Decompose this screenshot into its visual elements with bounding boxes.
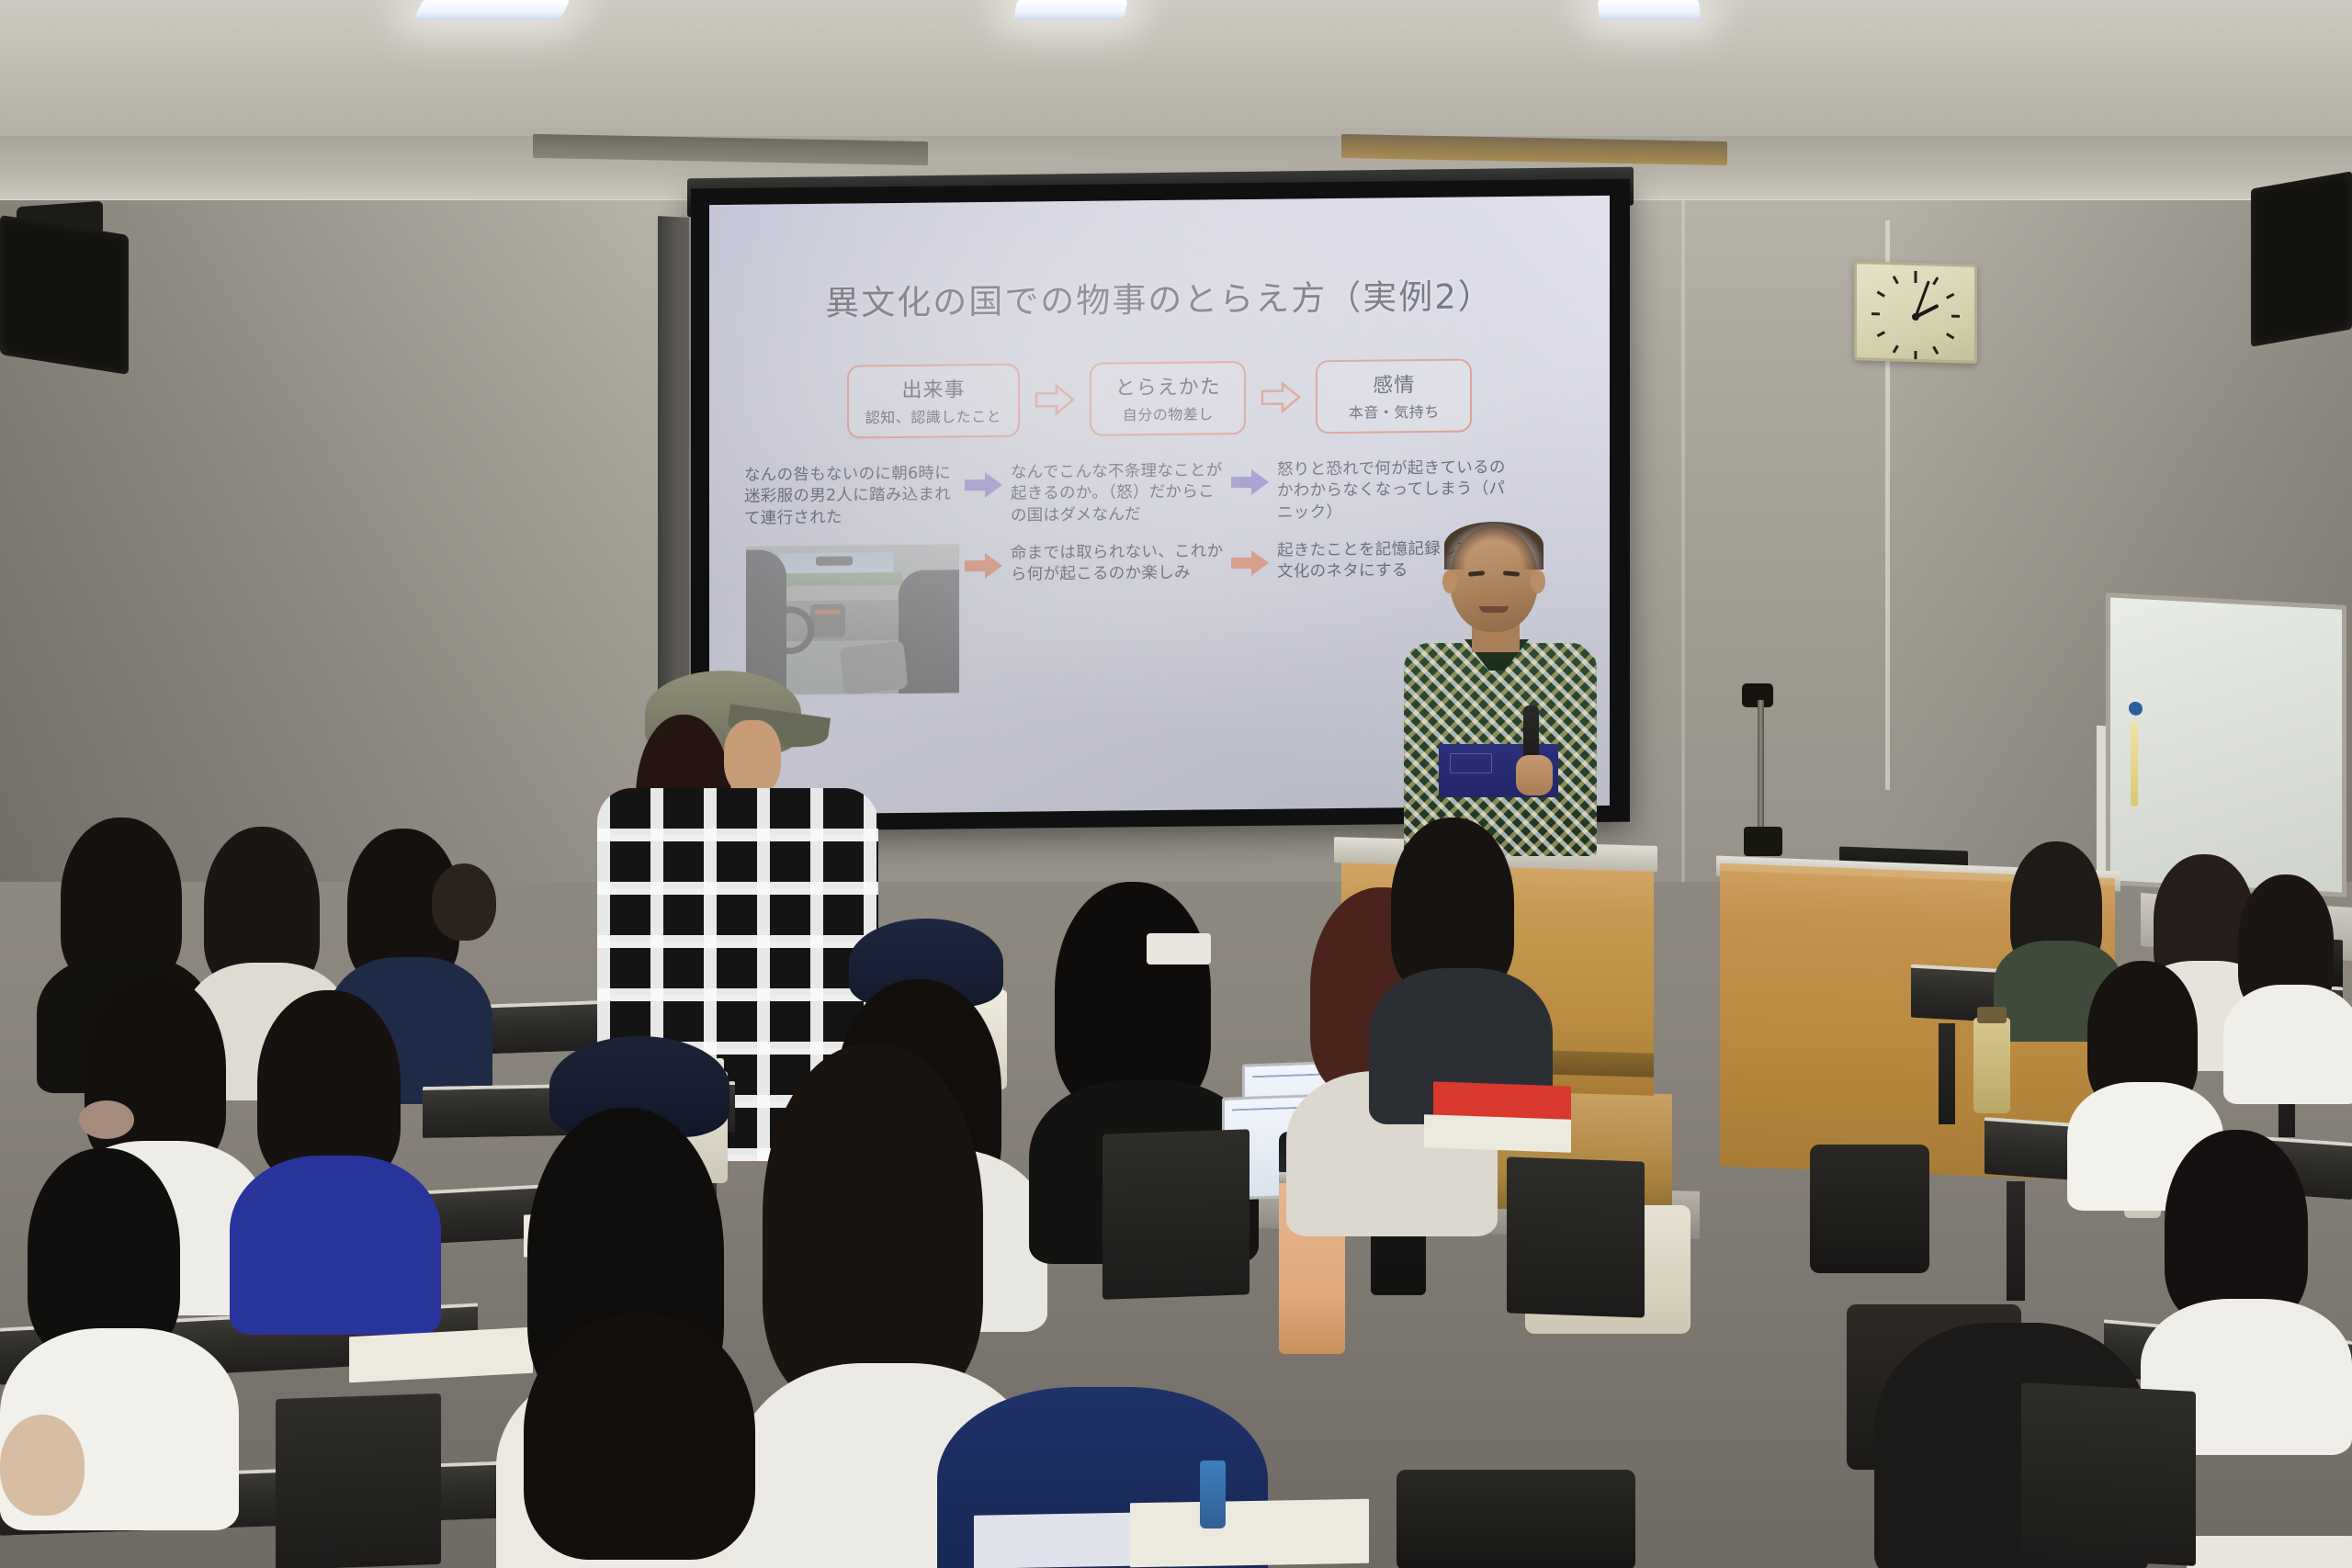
chair <box>276 1393 441 1568</box>
arrow-right-icon <box>961 461 1007 499</box>
chain-box-heading: 感情 <box>1334 368 1453 399</box>
chain-box-interpretation: とらえかた 自分の物差し <box>1090 361 1246 436</box>
wall-seam <box>1681 200 1685 898</box>
chair <box>2021 1382 2196 1566</box>
backpack <box>1810 1145 1929 1273</box>
audience-person <box>0 1148 239 1461</box>
chair <box>1507 1156 1645 1317</box>
small-can <box>1200 1461 1226 1529</box>
mic-stand-base <box>1744 827 1782 856</box>
wall-clock: 2:03 <box>1854 261 1977 364</box>
row-emotion-text: 怒りと恐れで何が起きているのかわからなくなってしまう（パニック） <box>1277 456 1507 524</box>
whiteboard <box>2106 592 2346 897</box>
desk-leg <box>2007 1181 2025 1301</box>
hair-scrunchie <box>79 1100 134 1139</box>
presenter-attire-label: patterned green and white shirt with blu… <box>1398 525 1399 526</box>
ceiling-light <box>1598 0 1701 20</box>
magnet-icon <box>2129 701 2143 716</box>
marker-icon <box>2131 722 2138 807</box>
handout-paper <box>1130 1499 1369 1568</box>
audience-person <box>1369 818 1553 1093</box>
backpack <box>1396 1470 1635 1568</box>
arrow-right-icon <box>1227 458 1273 496</box>
chain-box-sub: 認知、認識したこと <box>865 404 1002 428</box>
mic-stand-pole <box>1758 700 1764 840</box>
chain-box-heading: とらえかた <box>1108 370 1227 400</box>
arrow-right-icon <box>961 542 1007 580</box>
ceiling-light <box>1013 0 1128 20</box>
audience-person <box>2223 874 2352 1058</box>
ceiling-light <box>413 0 571 20</box>
arrow-right-icon <box>1227 538 1273 576</box>
slide-concept-chain: 出来事 認知、認識したこと とらえかた 自分の物差し <box>744 357 1575 439</box>
row-interpretation-text: 命までは取られない、これから何が起こるのか楽しみ <box>1011 539 1227 586</box>
neck <box>724 720 781 795</box>
handout-paper <box>1424 1114 1571 1153</box>
chain-box-sub: 本音・気持ち <box>1334 400 1453 423</box>
chain-box-emotion: 感情 本音・気持ち <box>1316 358 1472 434</box>
row-interpretation-text: なんでこんな不条理なことが起きるのか。（怒）だからこの国はダメなんだ <box>1011 458 1227 526</box>
desk-leg <box>1939 1023 1955 1124</box>
chevron-right-icon <box>1035 383 1075 416</box>
audience-person <box>230 990 441 1266</box>
presenter: patterned green and white shirt with blu… <box>1398 525 1600 856</box>
audience-person-front <box>487 1314 818 1568</box>
chevron-right-icon <box>1261 380 1301 413</box>
chain-box-event: 出来事 認知、認識したこと <box>847 364 1021 439</box>
presenter-ear <box>1442 570 1457 593</box>
chain-box-sub: 自分の物差し <box>1108 401 1227 424</box>
chair <box>1102 1129 1249 1300</box>
water-bottle <box>1973 1018 2010 1113</box>
presenter-ear <box>1531 570 1545 593</box>
audience-person <box>0 1415 110 1568</box>
lecture-hall-photo: 2:03 異文化の国での物事のとらえ方（実例2） 出来事 認知、認識したこと と… <box>0 0 2352 1568</box>
slide-row: なんの咎もないのに朝6時に迷彩服の男2人に踏み込まれて連行された なんでこんな不… <box>744 455 1575 529</box>
presenter-mouth <box>1479 606 1509 613</box>
wall-speaker-left <box>0 215 129 375</box>
presenter-hair <box>1444 522 1543 570</box>
chain-box-heading: 出来事 <box>865 373 1002 404</box>
wall-speaker-right <box>2251 171 2352 346</box>
audience-person <box>2141 1130 2352 1405</box>
clock-time-value: 2:03 <box>1857 264 1858 265</box>
bottle-cap <box>1977 1007 2007 1023</box>
handout-paper <box>2187 1536 2352 1568</box>
slide-title: 異文化の国での物事のとらえ方（実例2） <box>744 267 1575 325</box>
audience-person-glasses <box>404 863 514 974</box>
ceiling <box>0 0 2352 136</box>
row-event-text: なんの咎もないのに朝6時に迷彩服の男2人に踏み込まれて連行された <box>744 461 961 529</box>
presenter-hand <box>1516 755 1553 795</box>
clock-center-pin <box>1912 313 1919 321</box>
hair-clip <box>1147 933 1211 964</box>
